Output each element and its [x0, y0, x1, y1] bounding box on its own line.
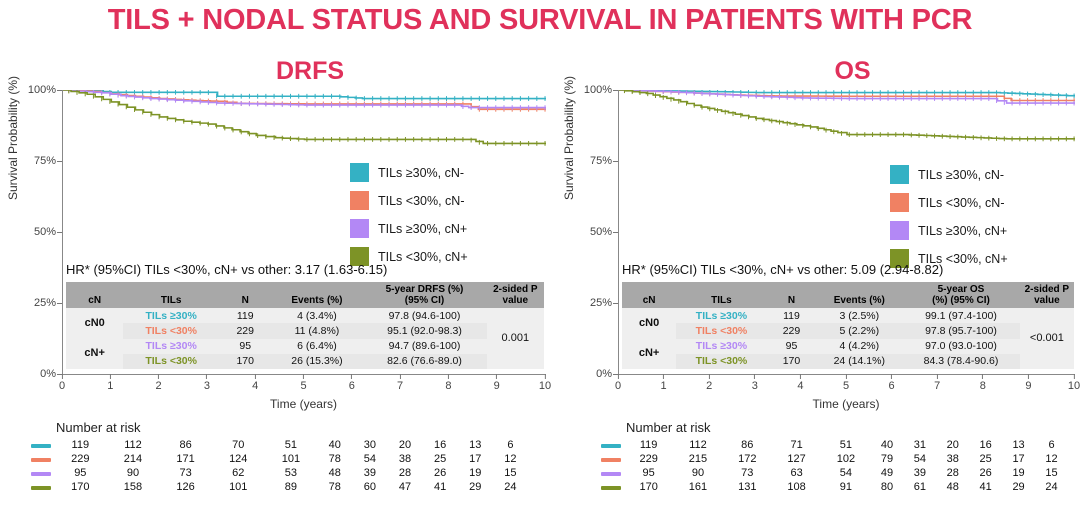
- risk-value: 62: [212, 466, 265, 480]
- risk-value: 26: [423, 466, 458, 480]
- x-tick-mark: [351, 374, 352, 379]
- risk-value: 95: [54, 466, 107, 480]
- risk-value: 79: [871, 452, 904, 466]
- x-tick-label: 6: [349, 380, 355, 392]
- table-header-cell: cN: [622, 282, 676, 308]
- risk-value: 112: [673, 438, 722, 452]
- risk-value: 170: [624, 480, 673, 494]
- table-header-cell: TILs: [123, 282, 219, 308]
- y-tick-label: 25%: [34, 297, 56, 309]
- x-tick: 7: [397, 374, 403, 392]
- risk-value: 28: [387, 466, 422, 480]
- x-tick-mark: [937, 374, 938, 379]
- cn-cell: cN0: [66, 308, 123, 338]
- risk-value: 229: [54, 452, 107, 466]
- x-tick: 8: [980, 374, 986, 392]
- y-tick-label: 100%: [28, 84, 56, 96]
- risk-value: 71: [772, 438, 821, 452]
- risk-value: 13: [1002, 438, 1035, 452]
- y-tick-label: 100%: [584, 84, 612, 96]
- stats-table: cNTILsNEvents (%)5-year OS(%) (95% CI)2-…: [622, 282, 1074, 369]
- cn-cell: cN+: [66, 339, 123, 369]
- risk-value: 51: [265, 438, 318, 452]
- header-line-2: value: [1023, 295, 1071, 306]
- x-tick-label: 8: [980, 380, 986, 392]
- legend-item[interactable]: TILs <30%, cN-: [890, 193, 1008, 212]
- table-header-cell: N: [219, 282, 272, 308]
- x-tick: 8: [445, 374, 451, 392]
- risk-value: 20: [936, 438, 969, 452]
- x-tick-label: 3: [204, 380, 210, 392]
- risk-value: 108: [772, 480, 821, 494]
- risk-row: 11911286705140302016136: [28, 438, 528, 452]
- risk-value: 124: [212, 452, 265, 466]
- table-cell-events: 4 (4.2%): [816, 339, 902, 354]
- x-axis-label-os: Time (years): [618, 397, 1074, 411]
- table-cell-n: 229: [219, 323, 272, 338]
- header-line-2: value: [490, 295, 541, 306]
- number-at-risk-drfs: Number at risk11911286705140302016136229…: [28, 420, 528, 494]
- header-line-1: N: [222, 295, 269, 306]
- risk-value: 47: [387, 480, 422, 494]
- legend-item[interactable]: TILs ≥30%, cN+: [350, 219, 468, 238]
- x-tick-mark: [754, 374, 755, 379]
- header-line-1: 5-year DRFS (%): [365, 284, 483, 295]
- legend-item[interactable]: TILs ≥30%, cN+: [890, 221, 1008, 240]
- risk-value: 29: [458, 480, 493, 494]
- x-tick-label: 0: [59, 380, 65, 392]
- risk-value: 29: [1002, 480, 1035, 494]
- table-header-cell: 2-sided Pvalue: [1020, 282, 1074, 308]
- legend-item[interactable]: TILs <30%, cN-: [350, 191, 468, 210]
- table-cell-n: 119: [219, 308, 272, 323]
- header-line-1: N: [770, 295, 814, 306]
- table-header-cell: cN: [66, 282, 123, 308]
- x-tick-mark: [110, 374, 111, 379]
- x-tick-mark: [400, 374, 401, 379]
- risk-value: 20: [387, 438, 422, 452]
- x-tick-mark: [448, 374, 449, 379]
- risk-series-swatch-icon: [598, 452, 624, 466]
- legend-label: TILs <30%, cN+: [378, 250, 468, 264]
- x-tick-label: 9: [494, 380, 500, 392]
- tils-cell: TILs ≥30%: [123, 339, 219, 354]
- table-cell-n: 95: [219, 339, 272, 354]
- risk-value: 31: [903, 438, 936, 452]
- risk-value: 30: [352, 438, 387, 452]
- table-cell-n: 119: [767, 308, 817, 323]
- risk-value: 12: [493, 452, 528, 466]
- risk-value: 40: [871, 438, 904, 452]
- risk-value: 19: [458, 466, 493, 480]
- risk-row: 17015812610189786047412924: [28, 480, 528, 494]
- risk-value: 215: [673, 452, 722, 466]
- x-tick-mark: [62, 374, 63, 379]
- legend-label: TILs ≥30%, cN+: [918, 224, 1007, 238]
- header-line-1: 2-sided P: [1023, 284, 1071, 295]
- risk-value: 40: [317, 438, 352, 452]
- x-tick: 9: [1025, 374, 1031, 392]
- x-tick: 1: [107, 374, 113, 392]
- table-cell-events: 5 (2.2%): [816, 323, 902, 338]
- risk-value: 61: [903, 480, 936, 494]
- panel-title-drfs: DRFS: [185, 57, 435, 86]
- x-tick: 10: [1068, 374, 1080, 392]
- x-tick: 5: [300, 374, 306, 392]
- legend-item[interactable]: TILs ≥30%, cN-: [890, 165, 1008, 184]
- risk-value: 126: [159, 480, 212, 494]
- x-tick-mark: [618, 374, 619, 379]
- table-cell-events: 11 (4.8%): [272, 323, 363, 338]
- legend-item[interactable]: TILs ≥30%, cN-: [350, 163, 468, 182]
- header-line-1: cN: [69, 295, 120, 306]
- risk-value: 95: [624, 466, 673, 480]
- risk-value: 24: [1035, 480, 1068, 494]
- legend-swatch-icon: [890, 221, 909, 240]
- risk-value: 48: [317, 466, 352, 480]
- table-header-cell: 5-year DRFS (%)(95% CI): [362, 282, 486, 308]
- table-cell-n: 229: [767, 323, 817, 338]
- risk-value: 49: [871, 466, 904, 480]
- x-tick: 2: [706, 374, 712, 392]
- legend-label: TILs ≥30%, cN-: [918, 168, 1004, 182]
- x-tick-mark: [663, 374, 664, 379]
- censor-marks: [69, 90, 545, 112]
- legend-swatch-icon: [350, 163, 369, 182]
- risk-value: 90: [673, 466, 722, 480]
- x-tick: 6: [349, 374, 355, 392]
- risk-value: 172: [723, 452, 772, 466]
- risk-value: 89: [265, 480, 318, 494]
- risk-value: 229: [624, 452, 673, 466]
- risk-value: 63: [772, 466, 821, 480]
- tils-cell: TILs <30%: [676, 354, 766, 369]
- cn-cell: cN0: [622, 308, 676, 338]
- x-tick-mark: [891, 374, 892, 379]
- x-tick-mark: [1074, 374, 1075, 379]
- table-row: cN0TILs ≥30%1193 (2.5%)99.1 (97.4-100)<0…: [622, 308, 1074, 323]
- number-at-risk-os: Number at risk11911286715140312016136229…: [598, 420, 1068, 494]
- km-curve: [619, 90, 1075, 139]
- table-header-row: cNTILsNEvents (%)5-year OS(%) (95% CI)2-…: [622, 282, 1074, 308]
- risk-value: 24: [493, 480, 528, 494]
- header-line-2: (95% CI): [365, 295, 483, 306]
- panel-os: Survival Probability (%) 0%25%50%75%100%…: [560, 90, 1078, 400]
- legend-swatch-icon: [890, 165, 909, 184]
- risk-value: 131: [723, 480, 772, 494]
- table-cell-five_year: 99.1 (97.4-100): [902, 308, 1020, 323]
- risk-value: 158: [107, 480, 160, 494]
- table-cell-events: 24 (14.1%): [816, 354, 902, 369]
- risk-series-swatch-icon: [598, 438, 624, 452]
- table-header-cell: Events (%): [272, 282, 363, 308]
- risk-value: 19: [1002, 466, 1035, 480]
- table-cell-n: 95: [767, 339, 817, 354]
- header-line-1: TILs: [679, 295, 763, 306]
- table-cell-events: 3 (2.5%): [816, 308, 902, 323]
- risk-value: 25: [969, 452, 1002, 466]
- risk-series-swatch-icon: [598, 466, 624, 480]
- x-tick-label: 9: [1025, 380, 1031, 392]
- x-tick: 10: [539, 374, 551, 392]
- risk-value: 86: [723, 438, 772, 452]
- risk-value: 6: [493, 438, 528, 452]
- x-tick-label: 8: [445, 380, 451, 392]
- x-tick-label: 4: [252, 380, 258, 392]
- x-tick-label: 6: [889, 380, 895, 392]
- y-axis-ticks-drfs: 0%25%50%75%100%: [20, 90, 62, 374]
- y-axis-ticks-os: 0%25%50%75%100%: [576, 90, 618, 374]
- y-tick-label: 75%: [590, 155, 612, 167]
- header-line-2: (%) (95% CI): [905, 295, 1017, 306]
- risk-value: 54: [903, 452, 936, 466]
- tils-cell: TILs <30%: [676, 323, 766, 338]
- y-tick-label: 50%: [590, 226, 612, 238]
- y-tick-label: 25%: [590, 297, 612, 309]
- risk-value: 78: [317, 480, 352, 494]
- table-cell-events: 26 (15.3%): [272, 354, 363, 369]
- x-tick: 0: [59, 374, 65, 392]
- risk-value: 51: [821, 438, 870, 452]
- table-cell-events: 4 (3.4%): [272, 308, 363, 323]
- legend-swatch-icon: [890, 193, 909, 212]
- x-tick-mark: [982, 374, 983, 379]
- x-tick: 3: [752, 374, 758, 392]
- risk-value: 102: [821, 452, 870, 466]
- x-tick: 5: [843, 374, 849, 392]
- x-tick-label: 5: [843, 380, 849, 392]
- table-row: TILs <30%22911 (4.8%)95.1 (92.0-98.3): [66, 323, 544, 338]
- x-tick-mark: [800, 374, 801, 379]
- table-row: TILs <30%2295 (2.2%)97.8 (95.7-100): [622, 323, 1074, 338]
- risk-value: 41: [423, 480, 458, 494]
- slide-root: TILS + NODAL STATUS AND SURVIVAL IN PATI…: [0, 0, 1080, 518]
- number-at-risk-table: 1191128671514031201613622921517212710279…: [598, 438, 1068, 494]
- risk-row: 9590736253483928261915: [28, 466, 528, 480]
- table-cell-five_year: 97.8 (94.6-100): [362, 308, 486, 323]
- risk-series-swatch-icon: [28, 480, 54, 494]
- legend-label: TILs <30%, cN-: [918, 196, 1005, 210]
- risk-row: 229214171124101785438251712: [28, 452, 528, 466]
- x-tick: 3: [204, 374, 210, 392]
- risk-value: 25: [423, 452, 458, 466]
- legend-label: TILs ≥30%, cN-: [378, 166, 464, 180]
- y-axis-label-os: Survival Probability (%): [562, 76, 576, 200]
- table-cell-five_year: 97.8 (95.7-100): [902, 323, 1020, 338]
- y-axis-label-drfs: Survival Probability (%): [6, 76, 20, 200]
- x-tick-mark: [206, 374, 207, 379]
- y-tick-label: 75%: [34, 155, 56, 167]
- risk-value: 78: [317, 452, 352, 466]
- risk-value: 60: [352, 480, 387, 494]
- risk-value: 38: [936, 452, 969, 466]
- x-tick: 1: [661, 374, 667, 392]
- legend-drfs: TILs ≥30%, cN-TILs <30%, cN-TILs ≥30%, c…: [350, 163, 468, 275]
- x-tick: 9: [494, 374, 500, 392]
- risk-value: 48: [936, 480, 969, 494]
- panel-title-os: OS: [745, 57, 960, 86]
- legend-label: TILs ≥30%, cN+: [378, 222, 467, 236]
- legend-swatch-icon: [350, 191, 369, 210]
- risk-value: 90: [107, 466, 160, 480]
- table-header-cell: Events (%): [816, 282, 902, 308]
- hr-text-drfs: HR* (95%CI) TILs <30%, cN+ vs other: 3.1…: [66, 262, 387, 277]
- x-tick-label: 2: [706, 380, 712, 392]
- header-line-1: Events (%): [275, 295, 360, 306]
- x-tick-label: 1: [661, 380, 667, 392]
- table-row: TILs <30%17024 (14.1%)84.3 (78.4-90.6): [622, 354, 1074, 369]
- table-cell-five_year: 97.0 (93.0-100): [902, 339, 1020, 354]
- table-header-cell: TILs: [676, 282, 766, 308]
- risk-value: 91: [821, 480, 870, 494]
- risk-value: 112: [107, 438, 160, 452]
- table-cell-n: 170: [219, 354, 272, 369]
- header-line-1: cN: [625, 295, 673, 306]
- risk-value: 170: [54, 480, 107, 494]
- x-tick-mark: [709, 374, 710, 379]
- risk-value: 86: [159, 438, 212, 452]
- risk-value: 101: [212, 480, 265, 494]
- risk-value: 73: [723, 466, 772, 480]
- hr-text-os: HR* (95%CI) TILs <30%, cN+ vs other: 5.0…: [622, 262, 943, 277]
- risk-series-swatch-icon: [28, 466, 54, 480]
- risk-value: 41: [969, 480, 1002, 494]
- risk-series-swatch-icon: [28, 452, 54, 466]
- table-header-cell: 2-sided Pvalue: [487, 282, 544, 308]
- risk-value: 161: [673, 480, 722, 494]
- x-axis-label-drfs: Time (years): [62, 397, 545, 411]
- x-tick: 4: [797, 374, 803, 392]
- risk-value: 39: [903, 466, 936, 480]
- risk-value: 38: [387, 452, 422, 466]
- table-row: cN0TILs ≥30%1194 (3.4%)97.8 (94.6-100)0.…: [66, 308, 544, 323]
- x-tick: 2: [156, 374, 162, 392]
- table-header-cell: 5-year OS(%) (95% CI): [902, 282, 1020, 308]
- risk-row: 9590736354493928261915: [598, 466, 1068, 480]
- y-tick-label: 0%: [596, 368, 612, 380]
- risk-value: 17: [1002, 452, 1035, 466]
- tils-cell: TILs <30%: [123, 323, 219, 338]
- legend-os: TILs ≥30%, cN-TILs <30%, cN-TILs ≥30%, c…: [890, 165, 1008, 277]
- risk-value: 28: [936, 466, 969, 480]
- x-tick: 0: [615, 374, 621, 392]
- tils-cell: TILs ≥30%: [676, 339, 766, 354]
- risk-series-swatch-icon: [598, 480, 624, 494]
- risk-series-swatch-icon: [28, 438, 54, 452]
- table-row: TILs <30%17026 (15.3%)82.6 (76.6-89.0): [66, 354, 544, 369]
- x-tick-mark: [158, 374, 159, 379]
- p-value-cell: <0.001: [1020, 308, 1074, 368]
- y-tick-label: 0%: [40, 368, 56, 380]
- x-tick: 7: [934, 374, 940, 392]
- risk-value: 15: [493, 466, 528, 480]
- header-line-1: TILs: [126, 295, 216, 306]
- risk-value: 39: [352, 466, 387, 480]
- risk-row: 229215172127102795438251712: [598, 452, 1068, 466]
- table-cell-five_year: 82.6 (76.6-89.0): [362, 354, 486, 369]
- tils-cell: TILs ≥30%: [676, 308, 766, 323]
- panel-drfs: Survival Probability (%) 0%25%50%75%100%…: [4, 90, 549, 400]
- risk-value: 16: [969, 438, 1002, 452]
- number-at-risk-table: 1191128670514030201613622921417112410178…: [28, 438, 528, 494]
- risk-value: 12: [1035, 452, 1068, 466]
- x-tick-label: 0: [615, 380, 621, 392]
- x-tick-label: 3: [752, 380, 758, 392]
- x-tick-mark: [1028, 374, 1029, 379]
- risk-value: 214: [107, 452, 160, 466]
- risk-value: 53: [265, 466, 318, 480]
- tils-cell: TILs ≥30%: [123, 308, 219, 323]
- risk-value: 80: [871, 480, 904, 494]
- risk-value: 17: [458, 452, 493, 466]
- p-value-cell: 0.001: [487, 308, 544, 368]
- risk-value: 70: [212, 438, 265, 452]
- risk-value: 119: [54, 438, 107, 452]
- stats-table: cNTILsNEvents (%)5-year DRFS (%)(95% CI)…: [66, 282, 544, 369]
- legend-swatch-icon: [350, 219, 369, 238]
- x-tick-mark: [846, 374, 847, 379]
- table-header-cell: N: [767, 282, 817, 308]
- risk-value: 73: [159, 466, 212, 480]
- number-at-risk-title: Number at risk: [56, 420, 528, 435]
- table-cell-five_year: 95.1 (92.0-98.3): [362, 323, 486, 338]
- cn-cell: cN+: [622, 339, 676, 369]
- risk-value: 6: [1035, 438, 1068, 452]
- x-tick-label: 7: [934, 380, 940, 392]
- risk-value: 16: [423, 438, 458, 452]
- number-at-risk-title: Number at risk: [626, 420, 1068, 435]
- table-row: cN+TILs ≥30%954 (4.2%)97.0 (93.0-100): [622, 339, 1074, 354]
- table-row: cN+TILs ≥30%956 (6.4%)94.7 (89.6-100): [66, 339, 544, 354]
- risk-value: 13: [458, 438, 493, 452]
- x-tick: 6: [889, 374, 895, 392]
- x-tick-mark: [545, 374, 546, 379]
- risk-value: 101: [265, 452, 318, 466]
- legend-label: TILs <30%, cN-: [378, 194, 465, 208]
- risk-row: 11911286715140312016136: [598, 438, 1068, 452]
- risk-value: 15: [1035, 466, 1068, 480]
- header-line-1: Events (%): [819, 295, 899, 306]
- x-tick: 4: [252, 374, 258, 392]
- page-title: TILS + NODAL STATUS AND SURVIVAL IN PATI…: [0, 4, 1080, 37]
- table-cell-five_year: 84.3 (78.4-90.6): [902, 354, 1020, 369]
- table-cell-five_year: 94.7 (89.6-100): [362, 339, 486, 354]
- x-tick-label: 1: [107, 380, 113, 392]
- risk-row: 17016113110891806148412924: [598, 480, 1068, 494]
- table-cell-n: 170: [767, 354, 817, 369]
- x-tick-mark: [255, 374, 256, 379]
- y-tick-label: 50%: [34, 226, 56, 238]
- x-tick-label: 7: [397, 380, 403, 392]
- x-tick-mark: [496, 374, 497, 379]
- x-tick-label: 10: [1068, 380, 1080, 392]
- risk-value: 54: [352, 452, 387, 466]
- x-tick-mark: [303, 374, 304, 379]
- risk-value: 119: [624, 438, 673, 452]
- risk-value: 171: [159, 452, 212, 466]
- x-tick-label: 10: [539, 380, 551, 392]
- x-tick-label: 4: [797, 380, 803, 392]
- header-line-1: 2-sided P: [490, 284, 541, 295]
- table-header-row: cNTILsNEvents (%)5-year DRFS (%)(95% CI)…: [66, 282, 544, 308]
- x-tick-label: 5: [300, 380, 306, 392]
- table-cell-events: 6 (6.4%): [272, 339, 363, 354]
- x-tick-label: 2: [156, 380, 162, 392]
- tils-cell: TILs <30%: [123, 354, 219, 369]
- risk-value: 26: [969, 466, 1002, 480]
- risk-value: 54: [821, 466, 870, 480]
- risk-value: 127: [772, 452, 821, 466]
